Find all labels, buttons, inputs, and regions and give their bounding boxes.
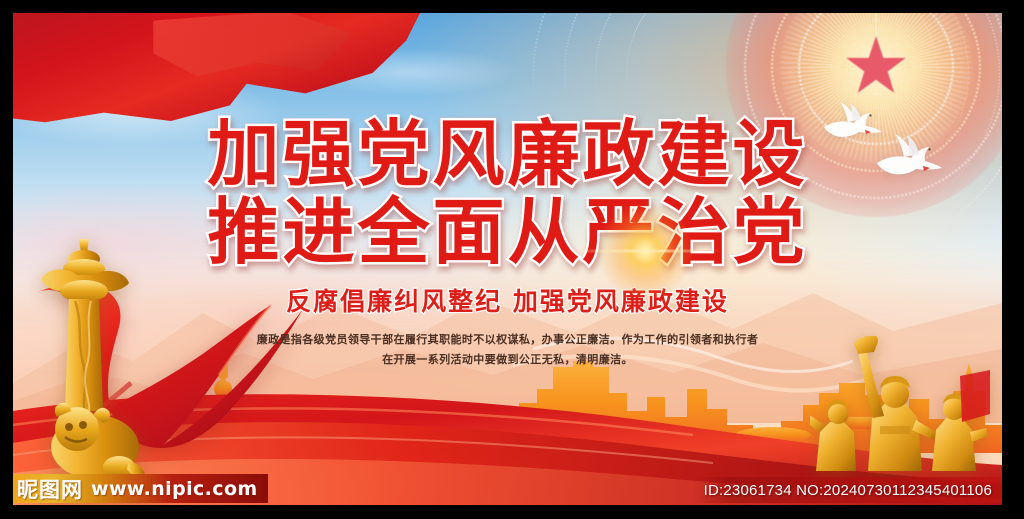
body-text-line-2: 在开展一系列活动中要做到公正无私，清明廉洁。 [13,350,1002,370]
poster-frame: 加强党风廉政建设 推进全面从严治党 反腐倡廉纠风整纪 加强党风廉政建设 廉政是指… [0,0,1024,519]
site-watermark: 昵图网 www.nipic.com [13,474,268,503]
headline-line-2: 推进全面从严治党 [13,196,1002,268]
poster-artwork: 加强党风廉政建设 推进全面从严治党 反腐倡廉纠风整纪 加强党风廉政建设 廉政是指… [13,13,1002,505]
poster-body-text: 廉政是指各级党员领导干部在履行其职能时不以权谋私，办事公正廉洁。作为工作的引领者… [13,330,1002,371]
headline-line-2-text: 推进全面从严治党 [207,190,807,274]
poster-subtitle: 反腐倡廉纠风整纪 加强党风廉政建设 [13,282,1002,318]
poster-text-block: 加强党风廉政建设 推进全面从严治党 反腐倡廉纠风整纪 加强党风廉政建设 廉政是指… [13,118,1002,371]
image-id-text: ID:23061734 NO:20240730112345401106 [704,482,992,499]
body-text-line-1: 廉政是指各级党员领导干部在履行其职能时不以权谋私，办事公正廉洁。作为工作的引领者… [13,330,1002,350]
headline-line-1: 加强党风廉政建设 [13,118,1002,190]
image-id-bar: ID:23061734 NO:20240730112345401106 [694,477,1002,503]
watermark-site-name: 昵图网 [17,474,83,504]
headline-line-1-text: 加强党风廉政建设 [207,112,807,196]
watermark-site-url: www.nipic.com [91,478,258,500]
